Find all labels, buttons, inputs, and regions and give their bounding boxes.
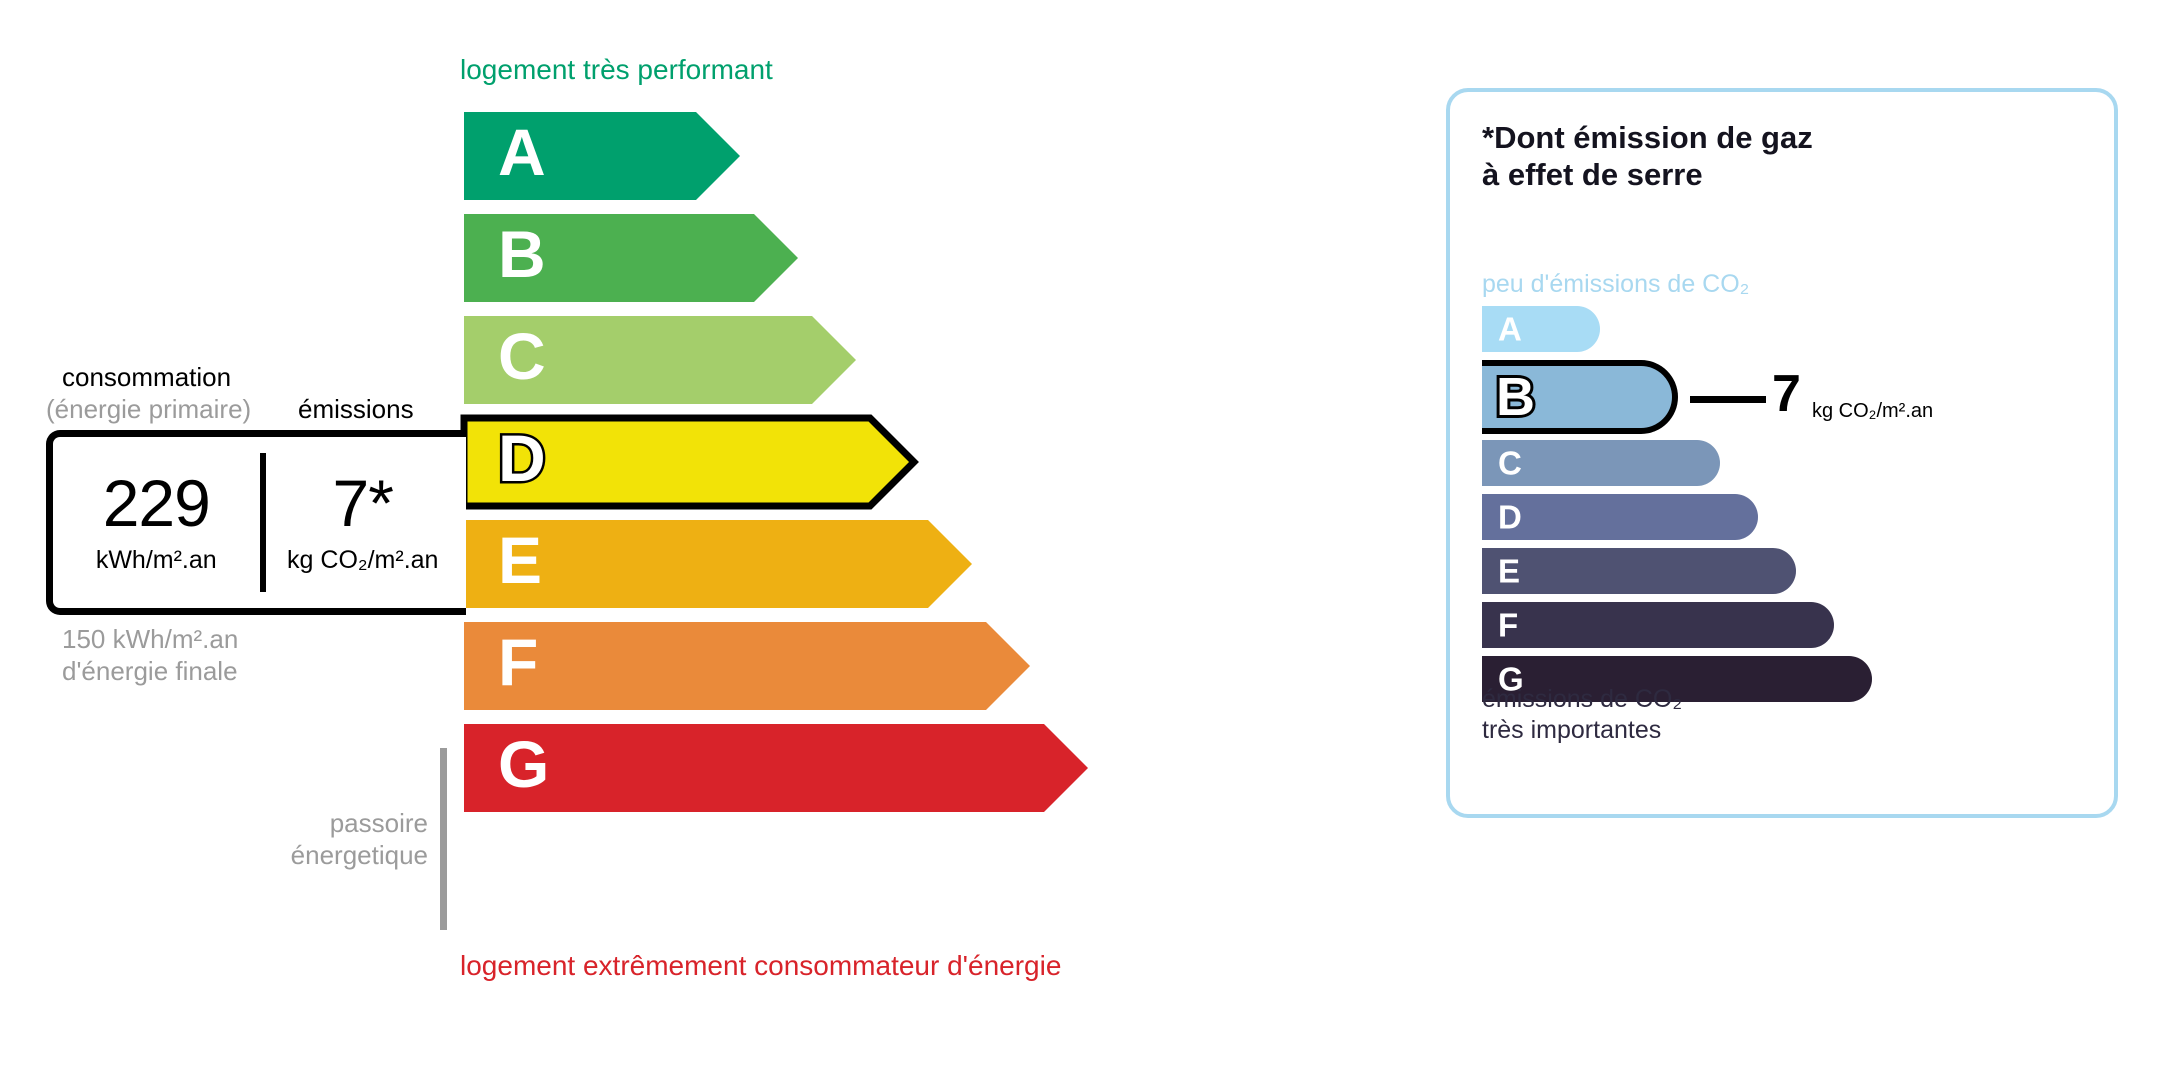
co2-bottom-line1: émissions de CO₂ xyxy=(1482,684,1682,715)
co2-panel-title: *Dont émission de gaz à effet de serre xyxy=(1482,120,1813,193)
energy-class-row-c[interactable]: C xyxy=(460,312,852,400)
co2-class-bar-f xyxy=(1482,602,1834,648)
final-energy-note: 150 kWh/m².an d'énergie finale xyxy=(62,624,238,687)
consumption-subheader-label: (énergie primaire) xyxy=(46,394,251,425)
value-readout-box: 229 kWh/m².an 7* kg CO₂/m².an xyxy=(46,430,466,615)
energy-class-arrow-e xyxy=(460,516,976,612)
co2-title-line2: à effet de serre xyxy=(1482,157,1813,194)
co2-class-bar-a xyxy=(1482,306,1600,352)
co2-top-caption: peu d'émissions de CO₂ xyxy=(1482,270,1749,299)
energy-class-row-a[interactable]: A xyxy=(460,108,736,196)
passoire-bracket xyxy=(440,748,447,930)
energy-class-row-e[interactable]: E xyxy=(460,516,968,604)
energy-class-arrow-a xyxy=(460,108,744,204)
final-energy-line2: d'énergie finale xyxy=(62,656,238,688)
co2-class-rows: AB7kg CO₂/m².anCDEFG xyxy=(1482,306,2082,710)
co2-class-bar-e xyxy=(1482,548,1796,594)
co2-class-bar-d xyxy=(1482,494,1758,540)
consumption-readout: 229 kWh/m².an xyxy=(53,437,260,608)
energy-class-arrow-f xyxy=(460,618,1034,714)
energy-class-row-f[interactable]: F xyxy=(460,618,1026,706)
co2-emissions-panel: *Dont émission de gaz à effet de serre p… xyxy=(1446,88,2118,818)
co2-bottom-caption: émissions de CO₂ très importantes xyxy=(1482,684,1682,745)
emissions-value: 7* xyxy=(333,470,393,536)
consumption-header-label: consommation xyxy=(62,362,231,393)
energy-class-arrow-d xyxy=(460,414,918,510)
co2-class-bar-b xyxy=(1482,360,1678,434)
energy-class-row-d[interactable]: D xyxy=(460,414,910,502)
co2-class-row-b[interactable]: B7kg CO₂/m².an xyxy=(1482,360,2082,434)
emissions-header-label: émissions xyxy=(298,394,414,425)
dpe-energy-label: logement très performant A B C D E F G l… xyxy=(0,0,2170,1079)
co2-class-row-f[interactable]: F xyxy=(1482,602,2082,648)
co2-value: 7 xyxy=(1772,368,1801,420)
energy-class-arrow-b xyxy=(460,210,802,306)
co2-class-row-c[interactable]: C xyxy=(1482,440,2082,486)
co2-title-line1: *Dont émission de gaz xyxy=(1482,120,1813,157)
energy-performance-scale: logement très performant A B C D E F G l… xyxy=(0,0,1380,1079)
co2-class-bar-c xyxy=(1482,440,1720,486)
co2-value-unit: kg CO₂/m².an xyxy=(1812,400,1933,423)
consumption-value: 229 xyxy=(103,470,210,536)
energy-class-arrow-g xyxy=(460,720,1092,816)
emissions-readout: 7* kg CO₂/m².an xyxy=(260,437,467,608)
co2-bottom-line2: très importantes xyxy=(1482,715,1682,746)
passoire-label: passoire énergetique xyxy=(180,808,428,871)
consumption-unit: kWh/m².an xyxy=(96,546,217,575)
co2-value-leader-line xyxy=(1690,396,1766,403)
co2-class-row-d[interactable]: D xyxy=(1482,494,2082,540)
energy-class-row-g[interactable]: G xyxy=(460,720,1084,808)
co2-class-row-e[interactable]: E xyxy=(1482,548,2082,594)
scale-bottom-caption: logement extrêmement consommateur d'éner… xyxy=(460,950,1061,982)
co2-class-row-a[interactable]: A xyxy=(1482,306,2082,352)
final-energy-line1: 150 kWh/m².an xyxy=(62,624,238,656)
passoire-line1: passoire xyxy=(180,808,428,840)
passoire-line2: énergetique xyxy=(180,840,428,872)
energy-class-arrow-c xyxy=(460,312,860,408)
emissions-unit: kg CO₂/m².an xyxy=(287,546,438,575)
energy-class-row-b[interactable]: B xyxy=(460,210,794,298)
